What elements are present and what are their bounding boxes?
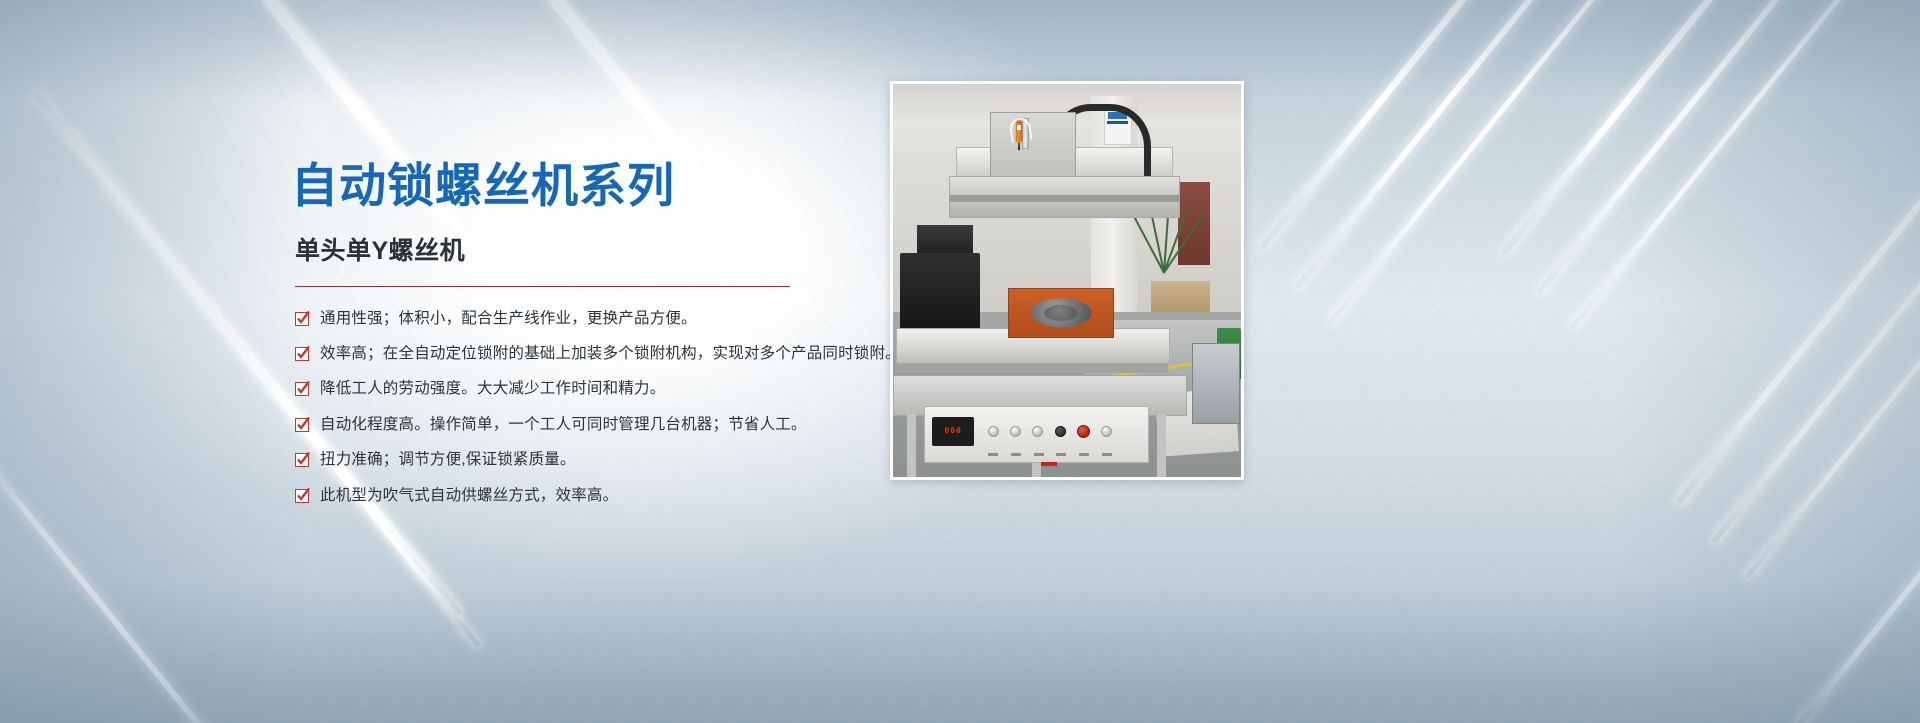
power-switch	[1041, 462, 1057, 466]
feature-text: 自动化程度高。操作简单，一个工人可同时管理几台机器；节省人工。	[320, 415, 807, 434]
feature-text: 扭力准确；调节方便,保证锁紧质量。	[320, 450, 576, 469]
list-item: 扭力准确；调节方便,保证锁紧质量。	[295, 450, 891, 469]
control-knob	[1055, 426, 1066, 437]
control-label-row	[988, 448, 1113, 461]
product-banner: 自动锁螺丝机系列 单头单Y螺丝机 通用性强；体积小，配合生产线作业，更换产品方便…	[0, 0, 1920, 723]
product-photo: 000	[890, 81, 1244, 480]
work-fixture	[1008, 288, 1114, 337]
control-knob	[1101, 426, 1112, 437]
feature-text: 此机型为吹气式自动供螺丝方式，效率高。	[320, 486, 618, 505]
list-item: 效率高；在全自动定位锁附的基础上加装多个锁附机构，实现对多个产品同时锁附。	[295, 344, 891, 363]
divider	[295, 286, 790, 287]
feature-text: 效率高；在全自动定位锁附的基础上加装多个锁附机构，实现对多个产品同时锁附。	[320, 344, 901, 363]
page-subtitle: 单头单Y螺丝机	[295, 231, 891, 267]
machine-control-panel: 000	[924, 406, 1149, 463]
checkbox-check-icon	[295, 382, 309, 396]
emergency-stop-button	[1077, 425, 1090, 438]
list-item: 自动化程度高。操作简单，一个工人可同时管理几台机器；节省人工。	[295, 415, 891, 434]
checkbox-check-icon	[295, 312, 309, 326]
list-item: 降低工人的劳动强度。大大减少工作时间和精力。	[295, 379, 891, 398]
list-item: 通用性强；体积小，配合生产线作业，更换产品方便。	[295, 309, 891, 328]
control-knob	[1032, 426, 1043, 437]
control-knob	[1010, 426, 1021, 437]
control-knob	[988, 426, 999, 437]
page-title: 自动锁螺丝机系列	[291, 160, 891, 213]
screwdriver-head	[1016, 120, 1022, 142]
feature-text: 通用性强；体积小，配合生产线作业，更换产品方便。	[320, 309, 697, 328]
feature-text: 降低工人的劳动强度。大大减少工作时间和精力。	[320, 379, 665, 398]
checkbox-check-icon	[295, 347, 309, 361]
banner-content: 自动锁螺丝机系列 单头单Y螺丝机 通用性强；体积小，配合生产线作业，更换产品方便…	[291, 160, 891, 521]
feature-list: 通用性强；体积小，配合生产线作业，更换产品方便。 效率高；在全自动定位锁附的基础…	[295, 309, 891, 505]
product-photo-image: 000	[893, 84, 1241, 477]
led-display-value: 000	[944, 427, 961, 435]
checkbox-check-icon	[295, 489, 309, 503]
led-display: 000	[932, 417, 974, 446]
list-item: 此机型为吹气式自动供螺丝方式，效率高。	[295, 486, 891, 505]
operator-screen	[1192, 343, 1239, 424]
checkbox-check-icon	[295, 453, 309, 467]
checkbox-check-icon	[295, 418, 309, 432]
control-knob-row	[988, 415, 1113, 448]
